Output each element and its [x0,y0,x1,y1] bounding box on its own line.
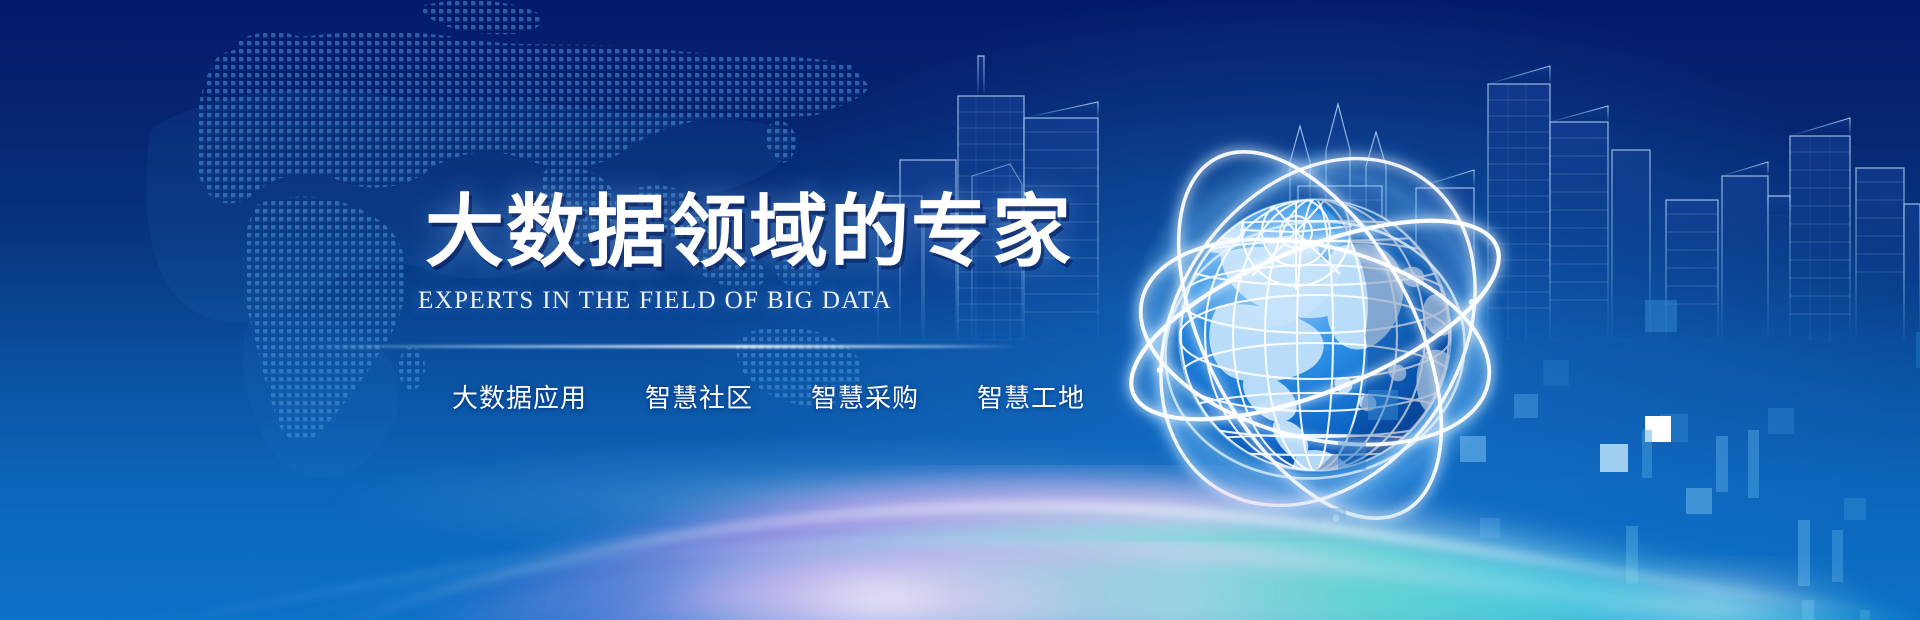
orbit-nodes [1157,299,1475,521]
globe-latitudes [1179,221,1451,455]
vertical-bars-icon [1620,430,1920,620]
tag-item-smart-procurement[interactable]: 智慧采购 [811,382,919,414]
page-subtitle: EXPERTS IN THE FIELD OF BIG DATA [418,286,892,316]
orbit-rings-back [1100,120,1530,550]
globe-continents [1196,216,1460,550]
divider-glow [300,345,1020,348]
tag-item-smart-worksite[interactable]: 智慧工地 [977,382,1085,414]
copy-block: 大数据领域的专家 EXPERTS IN THE FIELD OF BIG DAT… [0,0,1100,620]
banner-root: 大数据领域的专家 EXPERTS IN THE FIELD OF BIG DAT… [0,0,1920,620]
tag-list: 大数据应用 智慧社区 智慧采购 智慧工地 [452,382,1085,414]
globe-longitudes [1181,199,1449,471]
tag-item-big-data-app[interactable]: 大数据应用 [452,382,587,414]
globe-graphic [1100,120,1530,550]
tag-item-smart-community[interactable]: 智慧社区 [645,382,753,414]
page-title: 大数据领域的专家 [425,190,1073,274]
orbit-rings-front [1100,120,1530,550]
globe-polar-cap [1240,174,1352,290]
pixel-squares-icon [1360,0,1920,620]
